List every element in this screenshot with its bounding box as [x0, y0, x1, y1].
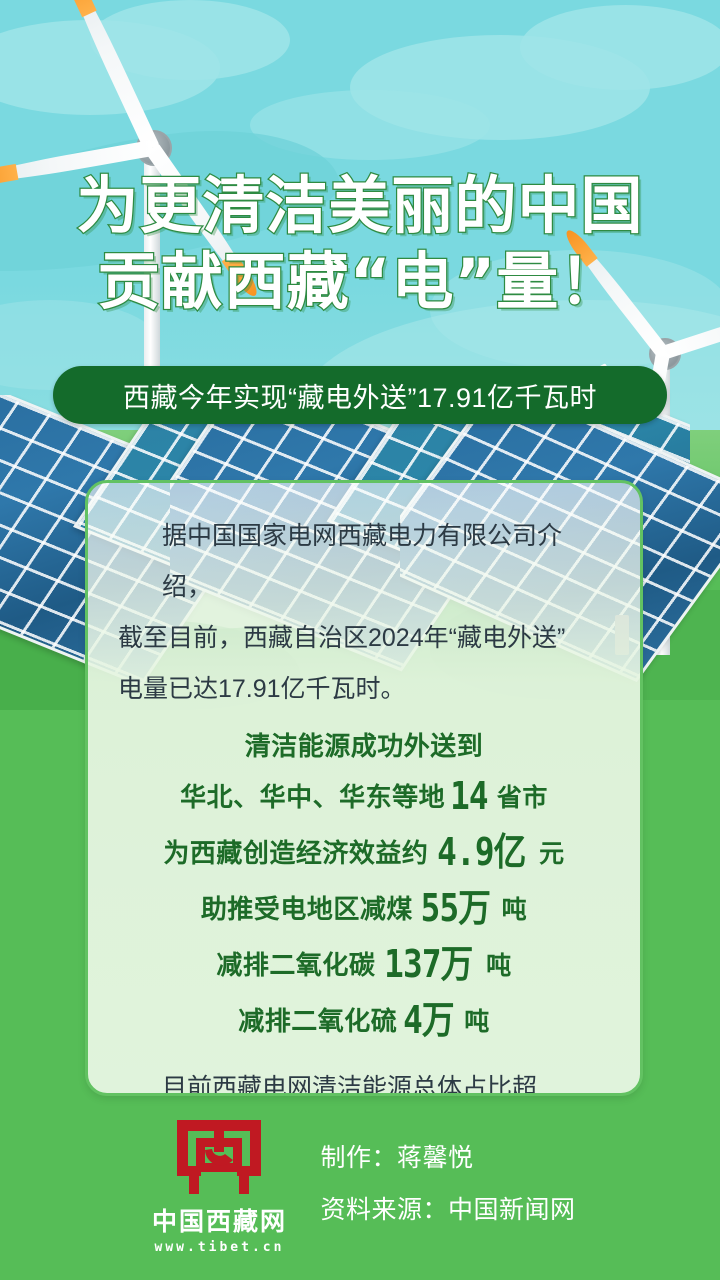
intro-paragraph: 据中国国家电网西藏电力有限公司介绍， 截至目前，西藏自治区2024年“藏电外送”…: [88, 483, 640, 715]
turbine-blade: [60, 0, 159, 151]
logo-url: www.tibet.cn: [144, 1240, 294, 1255]
turbine-blade-tip: [60, 0, 96, 17]
credit-source: 资料来源：中国新闻网: [320, 1184, 575, 1236]
tibet-seal-icon: [171, 1116, 267, 1198]
stat-unit: 吨: [486, 952, 512, 980]
credits-block: 制作：蒋馨悦 资料来源：中国新闻网: [320, 1110, 575, 1236]
stat-row: 减排二氧化硫4万吨: [88, 993, 640, 1049]
intro-line: 电量已达17.91亿千瓦时。: [118, 664, 610, 715]
stat-value: 14: [450, 769, 488, 823]
stats-block: 清洁能源成功外送到 华北、华中、华东等地14省市 为西藏创造经济效益约4.9亿元…: [88, 723, 640, 1049]
title-line-2: 贡献西藏“电”量！: [0, 244, 720, 320]
cloud-shape: [520, 5, 720, 90]
stat-unit: 吨: [502, 896, 528, 924]
stat-label: 助推受电地区减煤: [201, 894, 413, 924]
logo-name: 中国西藏网: [144, 1202, 294, 1238]
infographic-poster: 为更清洁美丽的中国 贡献西藏“电”量！ 西藏今年实现“藏电外送”17.91亿千瓦…: [0, 0, 720, 1280]
subtitle-banner: 西藏今年实现“藏电外送”17.91亿千瓦时: [53, 366, 667, 424]
subtitle-text: 西藏今年实现“藏电外送”17.91亿千瓦时: [123, 376, 597, 415]
stat-value: 55万: [421, 881, 490, 935]
intro-line: 据中国国家电网西藏电力有限公司介绍，: [118, 511, 610, 613]
stat-row: 助推受电地区减煤55万吨: [88, 881, 640, 937]
stats-heading: 清洁能源成功外送到: [88, 723, 640, 769]
stat-value: 4.9亿: [438, 825, 526, 879]
stat-row: 为西藏创造经济效益约4.9亿元: [88, 825, 640, 881]
title-line-1: 为更清洁美丽的中国: [0, 168, 720, 244]
outro-line: 目前西藏电网清洁能源总体占比超90％，: [118, 1063, 610, 1096]
stat-value: 137万: [385, 937, 473, 991]
stat-row: 减排二氧化碳137万吨: [88, 937, 640, 993]
stat-value: 4万: [403, 993, 454, 1047]
stat-label: 为西藏创造经济效益约: [163, 838, 428, 868]
stat-unit: 省市: [497, 784, 548, 812]
stat-unit: 吨: [464, 1008, 490, 1036]
stat-label: 减排二氧化碳: [216, 950, 375, 980]
intro-line: 截至目前，西藏自治区2024年“藏电外送”: [118, 613, 610, 664]
stat-label: 减排二氧化硫: [238, 1006, 397, 1036]
stat-row: 华北、华中、华东等地14省市: [88, 769, 640, 825]
stat-unit: 元: [539, 840, 565, 868]
site-logo: 中国西藏网 www.tibet.cn: [144, 1110, 294, 1255]
outro-paragraph: 目前西藏电网清洁能源总体占比超90％， 基本实现清洁能源供电。: [88, 1049, 640, 1096]
content-card: 据中国国家电网西藏电力有限公司介绍， 截至目前，西藏自治区2024年“藏电外送”…: [85, 480, 643, 1096]
poster-footer: 中国西藏网 www.tibet.cn 制作：蒋馨悦 资料来源：中国新闻网: [0, 1110, 720, 1260]
stat-label: 华北、华中、华东等地: [180, 782, 445, 812]
credit-producer: 制作：蒋馨悦: [320, 1132, 575, 1184]
poster-title: 为更清洁美丽的中国 贡献西藏“电”量！: [0, 168, 720, 320]
